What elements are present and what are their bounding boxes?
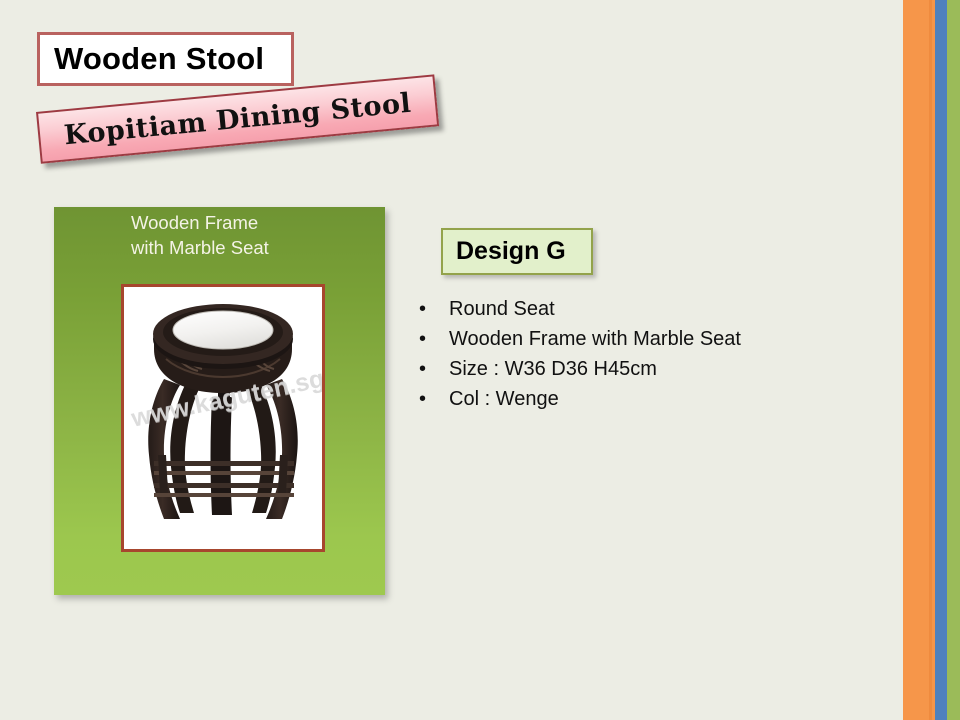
panel-caption-line-1: Wooden Frame [131,210,269,235]
bullet-icon: • [419,325,449,354]
panel-caption-line-2: with Marble Seat [131,235,269,260]
page-title-box: Wooden Stool [37,32,294,86]
edge-stripe-green [947,0,960,720]
spec-bullet-list: • Round Seat • Wooden Frame with Marble … [419,295,759,415]
bullet-icon: • [419,355,449,384]
list-item: • Col : Wenge [419,385,759,414]
panel-caption: Wooden Frame with Marble Seat [131,210,269,260]
product-image-panel: Wooden Frame with Marble Seat [54,207,385,595]
wooden-stool-illustration [124,287,322,549]
bullet-icon: • [419,385,449,414]
design-label-box: Design G [441,228,593,275]
product-banner-label: Kopitiam Dining Stool [63,87,413,151]
slide-canvas: Wooden Stool Kopitiam Dining Stool Woode… [0,0,960,720]
spec-item-3: Size : W36 D36 H45cm [449,355,657,384]
page-title: Wooden Stool [54,41,264,77]
bullet-icon: • [419,295,449,324]
design-label: Design G [456,237,566,266]
banner-wrapper: Kopitiam Dining Stool [36,74,440,169]
product-photo-frame: www.kaguten.sg [121,284,325,552]
spec-item-2: Wooden Frame with Marble Seat [449,325,741,354]
product-banner: Kopitiam Dining Stool [36,74,439,163]
list-item: • Wooden Frame with Marble Seat [419,325,759,354]
spec-item-4: Col : Wenge [449,385,559,414]
list-item: • Round Seat [419,295,759,324]
edge-stripe-blue [935,0,947,720]
spec-item-1: Round Seat [449,295,555,324]
edge-stripe-orange-accent [929,0,932,720]
list-item: • Size : W36 D36 H45cm [419,355,759,384]
